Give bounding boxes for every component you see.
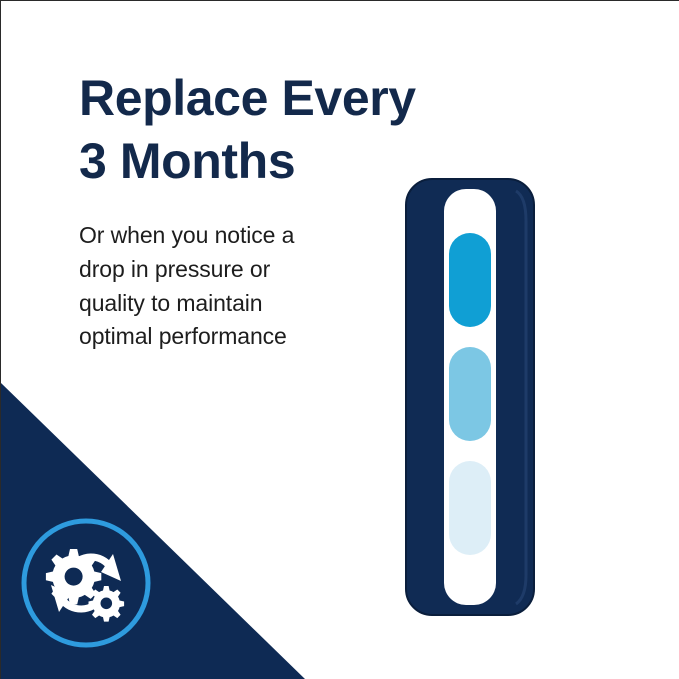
subcopy-line-3: quality to maintain (79, 287, 379, 321)
subcopy-line-1: Or when you notice a (79, 219, 379, 253)
gears-replacement-cycle-icon (46, 549, 124, 622)
page-title: Replace Every 3 Months (79, 67, 379, 193)
replacement-cycle-badge (12, 509, 160, 657)
large-gear-icon (46, 549, 101, 604)
indicator-full (449, 233, 491, 327)
headline-line-1: Replace Every (79, 67, 379, 130)
water-filter-cartridge (404, 177, 536, 617)
indicator-empty (449, 461, 491, 555)
text-block: Replace Every 3 Months Or when you notic… (79, 67, 379, 354)
subcopy: Or when you notice a drop in pressure or… (79, 219, 379, 354)
small-gear-icon (88, 586, 124, 622)
large-gear-hub (65, 568, 83, 586)
small-gear-hub (101, 598, 113, 610)
infographic-card: Replace Every 3 Months Or when you notic… (0, 0, 679, 679)
subcopy-line-4: optimal performance (79, 320, 379, 354)
indicator-partial (449, 347, 491, 441)
headline-line-2: 3 Months (79, 130, 379, 193)
subcopy-line-2: drop in pressure or (79, 253, 379, 287)
